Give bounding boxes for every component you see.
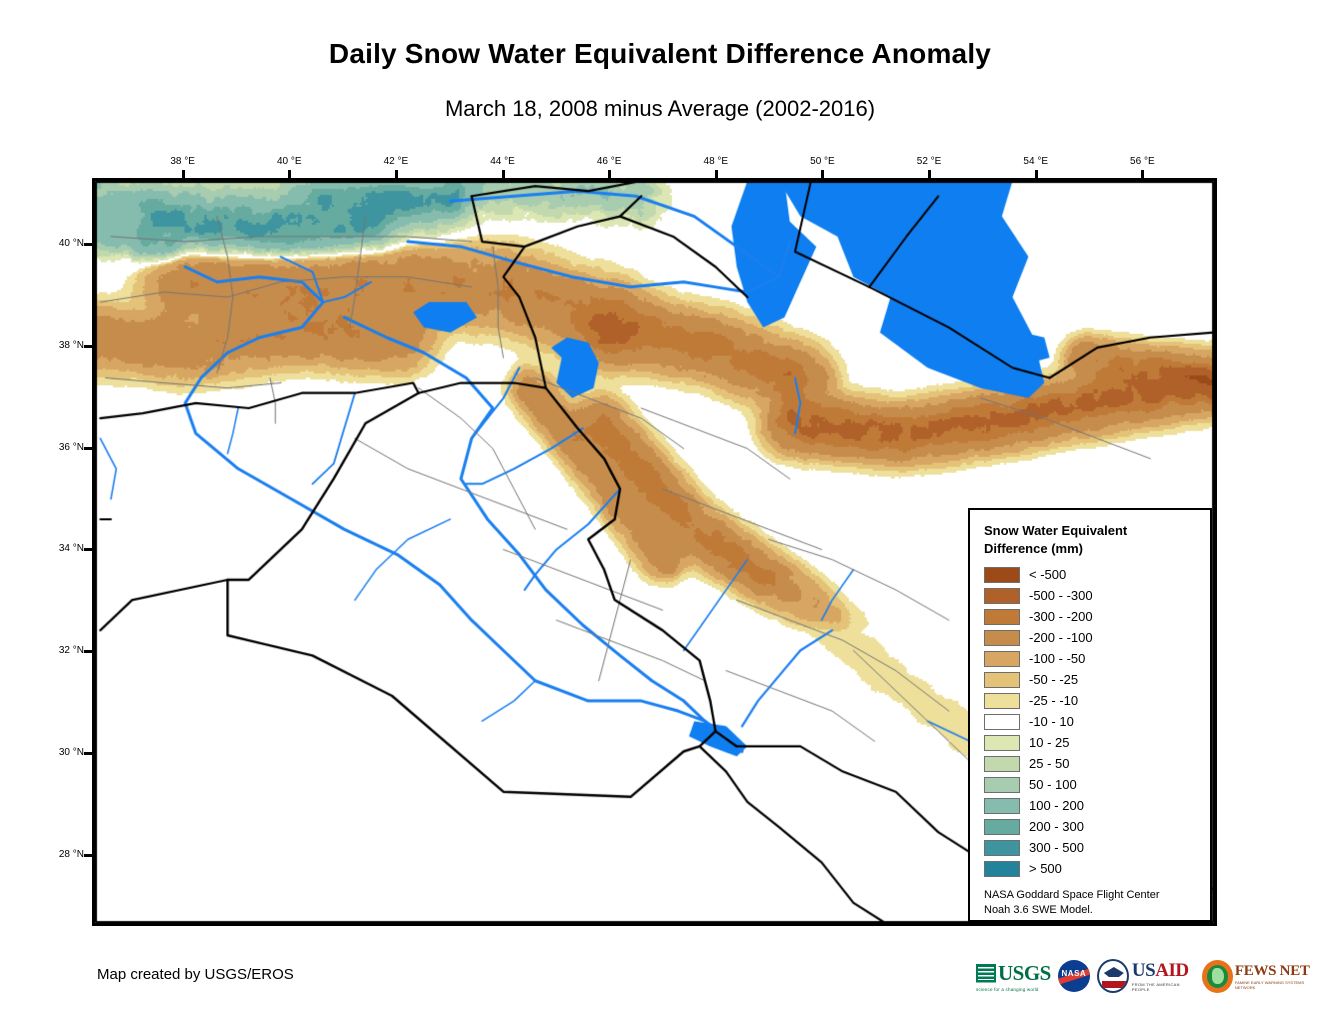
- legend-swatch: [984, 861, 1020, 877]
- legend-label: -50 - -25: [1029, 672, 1078, 687]
- agency-logo-strip: USGS science for a changing world NASA U…: [976, 955, 1320, 997]
- legend-row: < -500: [984, 564, 1200, 585]
- legend-swatch: [984, 777, 1020, 793]
- lon-tick-label: 46 °E: [586, 156, 632, 167]
- lat-tick-label: 32 °N: [38, 645, 84, 656]
- legend-swatch: [984, 672, 1020, 688]
- legend-row: -25 - -10: [984, 690, 1200, 711]
- legend-source-line2: Noah 3.6 SWE Model.: [984, 903, 1200, 918]
- legend-title: Snow Water Equivalent Difference (mm): [984, 522, 1200, 557]
- lon-tick-label: 38 °E: [160, 156, 206, 167]
- legend-swatch: [984, 798, 1020, 814]
- lon-tick-label: 48 °E: [693, 156, 739, 167]
- page-subtitle: March 18, 2008 minus Average (2002-2016): [0, 96, 1320, 122]
- legend-label: 25 - 50: [1029, 756, 1069, 771]
- legend-swatch: [984, 651, 1020, 667]
- legend-row: -50 - -25: [984, 669, 1200, 690]
- legend-label: 300 - 500: [1029, 840, 1084, 855]
- legend-row: -500 - -300: [984, 585, 1200, 606]
- legend-label: > 500: [1029, 861, 1062, 876]
- lon-tick-label: 54 °E: [1013, 156, 1059, 167]
- page-title: Daily Snow Water Equivalent Difference A…: [0, 38, 1320, 70]
- legend-row: 200 - 300: [984, 816, 1200, 837]
- legend-label: -25 - -10: [1029, 693, 1078, 708]
- fews-net-logo[interactable]: FEWS NET FAMINE EARLY WARNING SYSTEMS NE…: [1202, 959, 1320, 993]
- usaid-seal-icon: [1097, 959, 1129, 993]
- legend-label: 10 - 25: [1029, 735, 1069, 750]
- legend-label: 200 - 300: [1029, 819, 1084, 834]
- lon-tick-label: 44 °E: [480, 156, 526, 167]
- legend-label: -10 - 10: [1029, 714, 1074, 729]
- lat-tick-label: 34 °N: [38, 543, 84, 554]
- legend-title-line1: Snow Water Equivalent: [984, 522, 1200, 540]
- legend-swatch: [984, 714, 1020, 730]
- legend-title-line2: Difference (mm): [984, 540, 1200, 558]
- fews-globe-icon: [1202, 960, 1233, 993]
- legend-label: -500 - -300: [1029, 588, 1093, 603]
- legend-label: 50 - 100: [1029, 777, 1077, 792]
- legend-row: 100 - 200: [984, 795, 1200, 816]
- legend-swatch: [984, 735, 1020, 751]
- legend-label: -300 - -200: [1029, 609, 1093, 624]
- nasa-logo[interactable]: NASA: [1058, 959, 1090, 993]
- legend-row: -10 - 10: [984, 711, 1200, 732]
- legend-swatch: [984, 630, 1020, 646]
- lon-tick-label: 50 °E: [799, 156, 845, 167]
- legend-row: -300 - -200: [984, 606, 1200, 627]
- legend-label: -100 - -50: [1029, 651, 1085, 666]
- legend-row: -200 - -100: [984, 627, 1200, 648]
- fews-tagline: FAMINE EARLY WARNING SYSTEMS NETWORK: [1235, 980, 1320, 990]
- lat-tick-label: 28 °N: [38, 849, 84, 860]
- legend-swatch: [984, 693, 1020, 709]
- legend-swatch: [984, 567, 1020, 583]
- fews-wordmark: FEWS NET: [1235, 963, 1320, 980]
- legend-row: 10 - 25: [984, 732, 1200, 753]
- usaid-logo[interactable]: USAID FROM THE AMERICAN PEOPLE: [1097, 959, 1195, 993]
- legend-swatch: [984, 756, 1020, 772]
- usgs-tagline: science for a changing world: [976, 987, 1051, 992]
- lat-tick-label: 38 °N: [38, 340, 84, 351]
- usgs-wave-icon: [976, 964, 996, 983]
- legend-row: > 500: [984, 858, 1200, 879]
- lat-tick-label: 40 °N: [38, 238, 84, 249]
- lon-tick-label: 40 °E: [266, 156, 312, 167]
- legend-row: -100 - -50: [984, 648, 1200, 669]
- lon-tick-label: 52 °E: [906, 156, 952, 167]
- legend-row: 300 - 500: [984, 837, 1200, 858]
- legend-class-list: < -500-500 - -300-300 - -200-200 - -100-…: [984, 564, 1200, 879]
- usaid-wordmark-us: US: [1132, 960, 1155, 981]
- lon-tick-label: 42 °E: [373, 156, 419, 167]
- legend-swatch: [984, 588, 1020, 604]
- legend-label: -200 - -100: [1029, 630, 1093, 645]
- lat-tick-label: 36 °N: [38, 442, 84, 453]
- usgs-wordmark: USGS: [998, 961, 1051, 986]
- legend-source: NASA Goddard Space Flight Center Noah 3.…: [984, 888, 1200, 918]
- legend-row: 50 - 100: [984, 774, 1200, 795]
- lon-tick-label: 56 °E: [1119, 156, 1165, 167]
- nasa-meatball-icon: NASA: [1058, 960, 1090, 992]
- map-credit: Map created by USGS/EROS: [97, 966, 294, 983]
- legend-label: < -500: [1029, 567, 1066, 582]
- legend-swatch: [984, 609, 1020, 625]
- legend-row: 25 - 50: [984, 753, 1200, 774]
- legend-label: 100 - 200: [1029, 798, 1084, 813]
- legend-swatch: [984, 840, 1020, 856]
- usgs-logo[interactable]: USGS science for a changing world: [976, 959, 1051, 993]
- nasa-wordmark: NASA: [1058, 969, 1090, 978]
- legend-swatch: [984, 819, 1020, 835]
- usaid-tagline: FROM THE AMERICAN PEOPLE: [1132, 982, 1195, 992]
- lat-tick-label: 30 °N: [38, 747, 84, 758]
- map-legend: Snow Water Equivalent Difference (mm) < …: [968, 508, 1212, 922]
- usaid-wordmark-aid: AID: [1155, 960, 1188, 981]
- legend-source-line1: NASA Goddard Space Flight Center: [984, 888, 1200, 903]
